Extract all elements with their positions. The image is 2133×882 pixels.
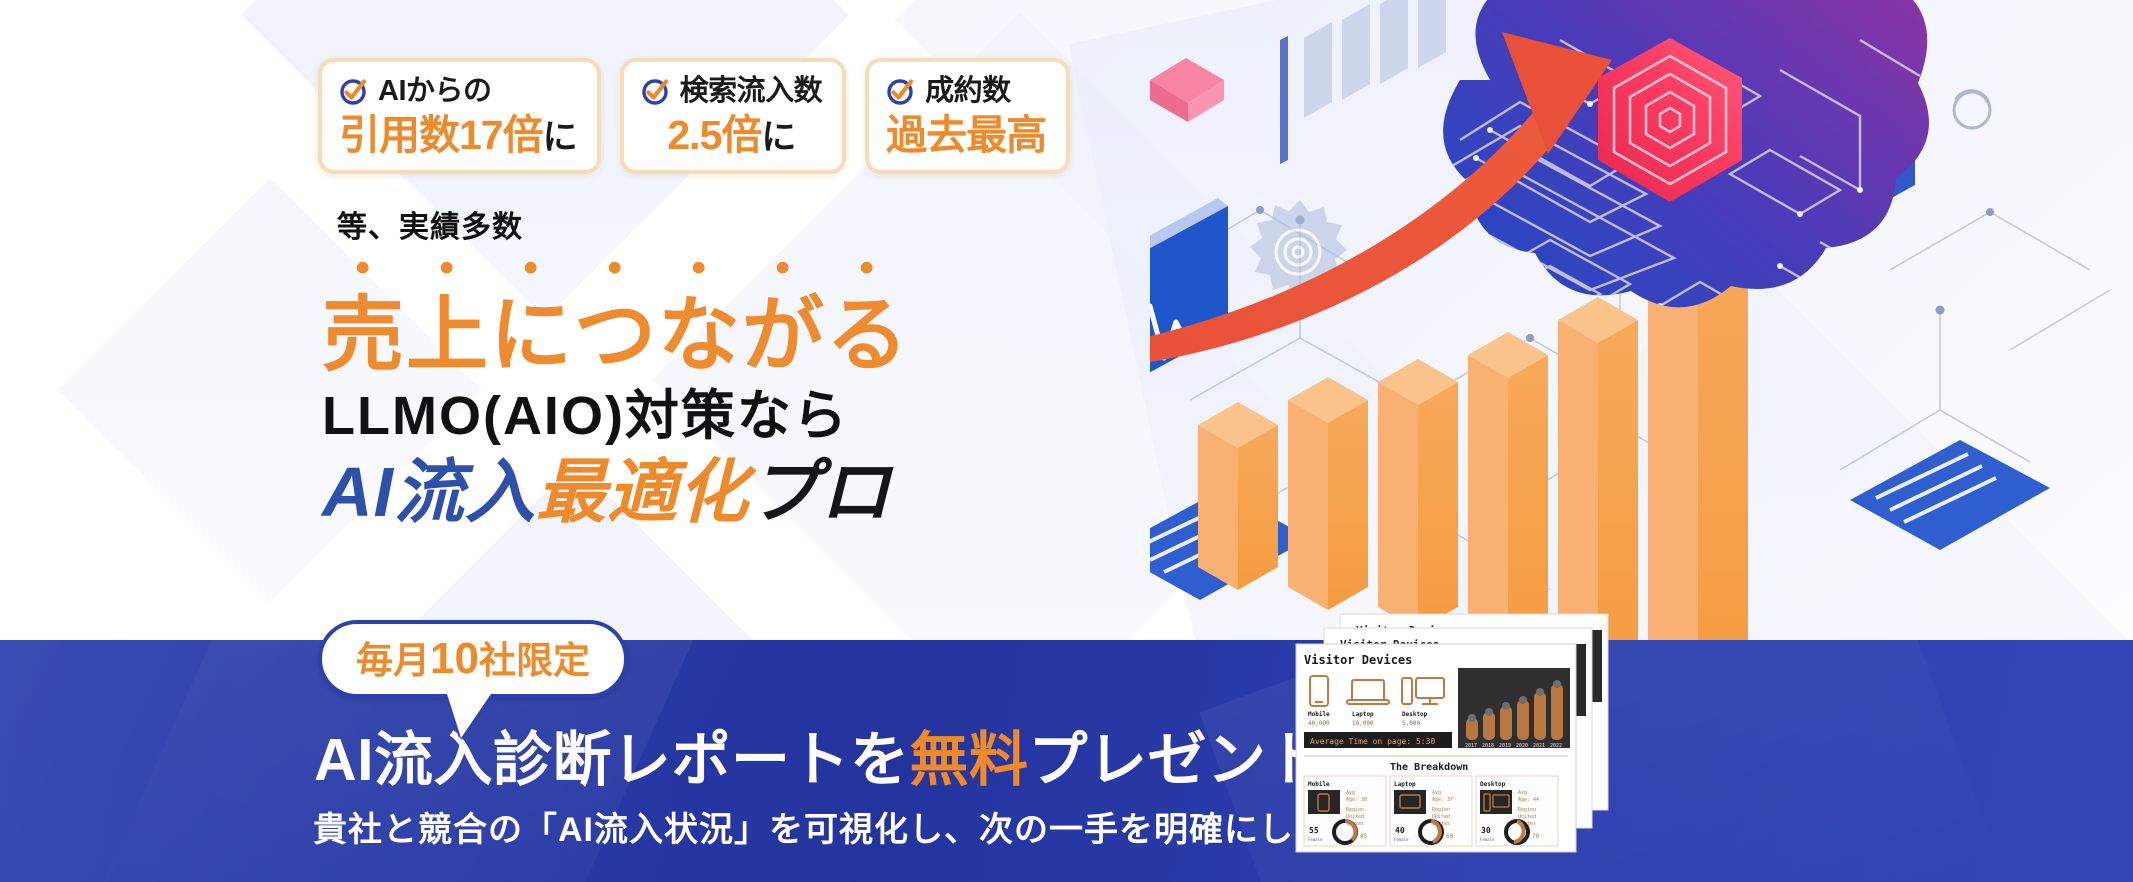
table-card-icon xyxy=(1280,0,1446,164)
svg-text:Avg: Avg xyxy=(1432,790,1441,796)
stat-card-header: 成約数 xyxy=(886,76,1046,106)
svg-text:70: 70 xyxy=(1532,833,1540,840)
stat-card-title: 成約数 xyxy=(925,77,1011,106)
stat-card-title: 検索流入数 xyxy=(680,77,823,106)
product-name: AI流入最適化プロ xyxy=(322,453,910,531)
check-circle-icon xyxy=(641,76,671,106)
svg-text:2018: 2018 xyxy=(1482,743,1494,749)
svg-text:Region: Region xyxy=(1432,807,1450,813)
headline-line-2: LLMO(AIO)対策なら xyxy=(322,385,910,449)
breakdown-panel: Laptop Avg Age: 37 Region United States … xyxy=(1390,776,1472,846)
badge-number: 10 xyxy=(430,634,479,683)
svg-text:2019: 2019 xyxy=(1499,743,1511,749)
product-name-part-3: プロ xyxy=(749,453,891,531)
svg-text:2017: 2017 xyxy=(1465,743,1477,749)
svg-text:55: 55 xyxy=(1309,826,1319,835)
product-name-part-2: 最適化 xyxy=(536,453,749,531)
svg-text:2021: 2021 xyxy=(1533,743,1545,749)
offer-subtitle: 貴社と競合の「AI流入状況」を可視化し、次の一手を明確にします xyxy=(313,812,1364,849)
stat-card-ai-citations: AIからの 引用数17倍に xyxy=(318,58,601,174)
check-circle-icon xyxy=(886,76,916,106)
svg-text:40: 40 xyxy=(1395,826,1405,835)
breakdown-panel: Mobile Avg Age: 30 Region United States … xyxy=(1304,776,1386,846)
svg-text:60: 60 xyxy=(1446,833,1454,840)
svg-text:Region: Region xyxy=(1346,807,1364,813)
svg-text:5,000: 5,000 xyxy=(1402,720,1420,727)
badge-tail xyxy=(447,694,491,738)
stat-card-value: 過去最高 xyxy=(886,115,1046,156)
stat-card-value-suffix: に xyxy=(543,118,577,157)
stat-card-conversions: 成約数 過去最高 xyxy=(865,58,1070,174)
stat-card-value-main: 引用数17倍 xyxy=(339,112,543,158)
mockup-bar-chart: 20172018 20192020 20212022 xyxy=(1458,668,1570,749)
ai-tech-illustration xyxy=(1150,0,2133,710)
svg-text:2022: 2022 xyxy=(1550,743,1562,749)
hero-headline: 売上につながる LLMO(AIO)対策なら AI流入最適化プロ xyxy=(322,238,910,531)
limited-offer-badge-wrapper: 毎月10社限定 xyxy=(318,620,628,698)
breakdown-title: The Breakdown xyxy=(1390,762,1468,773)
svg-text:40,000: 40,000 xyxy=(1308,720,1330,727)
waveform-monitor-icon xyxy=(1150,198,1228,394)
svg-text:Mobile: Mobile xyxy=(1308,711,1330,718)
refresh-node-icon xyxy=(1954,91,1990,128)
svg-text:Female: Female xyxy=(1394,837,1409,842)
svg-text:Mobile: Mobile xyxy=(1308,781,1330,788)
svg-text:Female: Female xyxy=(1308,837,1323,842)
product-name-part-1: AI流入 xyxy=(322,453,536,531)
badge-prefix: 毎月 xyxy=(356,640,430,681)
stat-card-value: 2.5倍に xyxy=(641,115,823,156)
svg-text:Laptop: Laptop xyxy=(1394,781,1416,788)
svg-text:Age: 44: Age: 44 xyxy=(1518,797,1539,803)
stat-card-value-main: 2.5倍 xyxy=(667,112,761,158)
breakdown-panel: Desktop Avg Age: 44 Region United States… xyxy=(1476,776,1558,846)
headline-line-1: 売上につながる xyxy=(322,238,910,381)
svg-text:Age: 30: Age: 30 xyxy=(1346,797,1367,803)
svg-text:United: United xyxy=(1346,814,1364,820)
svg-text:United: United xyxy=(1432,814,1450,820)
svg-text:Avg: Avg xyxy=(1518,790,1527,796)
stat-card-value: 引用数17倍に xyxy=(339,115,577,156)
offer-title-highlight: 無料 xyxy=(910,727,1029,793)
report-sheet-front: Visitor Devices Mobile 40,000 Laptop xyxy=(1296,644,1576,852)
limited-offer-badge: 毎月10社限定 xyxy=(318,620,628,698)
stat-card-value-main: 過去最高 xyxy=(886,112,1046,158)
report-preview-mockup: Visitor Devices Visitor Devices Visitor … xyxy=(1290,612,1640,862)
svg-text:United: United xyxy=(1518,814,1536,820)
svg-text:Desktop: Desktop xyxy=(1480,781,1506,788)
svg-text:Average Time on page: 5:30: Average Time on page: 5:30 xyxy=(1310,737,1435,746)
stat-card-header: AIからの xyxy=(339,76,577,106)
offer-title-part-1: AI流入診断レポートを xyxy=(314,727,910,793)
check-circle-icon xyxy=(339,76,369,106)
svg-text:Avg: Avg xyxy=(1346,790,1355,796)
badge-suffix: 社限定 xyxy=(479,640,590,681)
stat-card-search-traffic: 検索流入数 2.5倍に xyxy=(620,58,847,174)
stat-card-title: AIからの xyxy=(378,77,492,106)
svg-text:Region: Region xyxy=(1518,807,1536,813)
svg-text:Age: 37: Age: 37 xyxy=(1432,797,1453,803)
hero-banner: AIからの 引用数17倍に 検索流入数 2.5倍に xyxy=(0,0,2133,882)
svg-text:10,000: 10,000 xyxy=(1352,720,1374,727)
stat-cards-row: AIからの 引用数17倍に 検索流入数 2.5倍に xyxy=(318,58,1070,174)
stat-card-value-suffix: に xyxy=(761,118,795,157)
stat-card-header: 検索流入数 xyxy=(641,76,823,106)
svg-text:Female: Female xyxy=(1480,837,1495,842)
avg-time-banner: Average Time on page: 5:30 xyxy=(1304,732,1452,748)
svg-text:Laptop: Laptop xyxy=(1352,711,1374,718)
svg-text:45: 45 xyxy=(1360,833,1368,840)
svg-text:30: 30 xyxy=(1481,826,1491,835)
mockup-window-title: Visitor Devices xyxy=(1304,653,1412,667)
svg-text:2020: 2020 xyxy=(1516,743,1528,749)
svg-text:Desktop: Desktop xyxy=(1402,711,1428,718)
data-block-icon xyxy=(1150,58,1224,122)
